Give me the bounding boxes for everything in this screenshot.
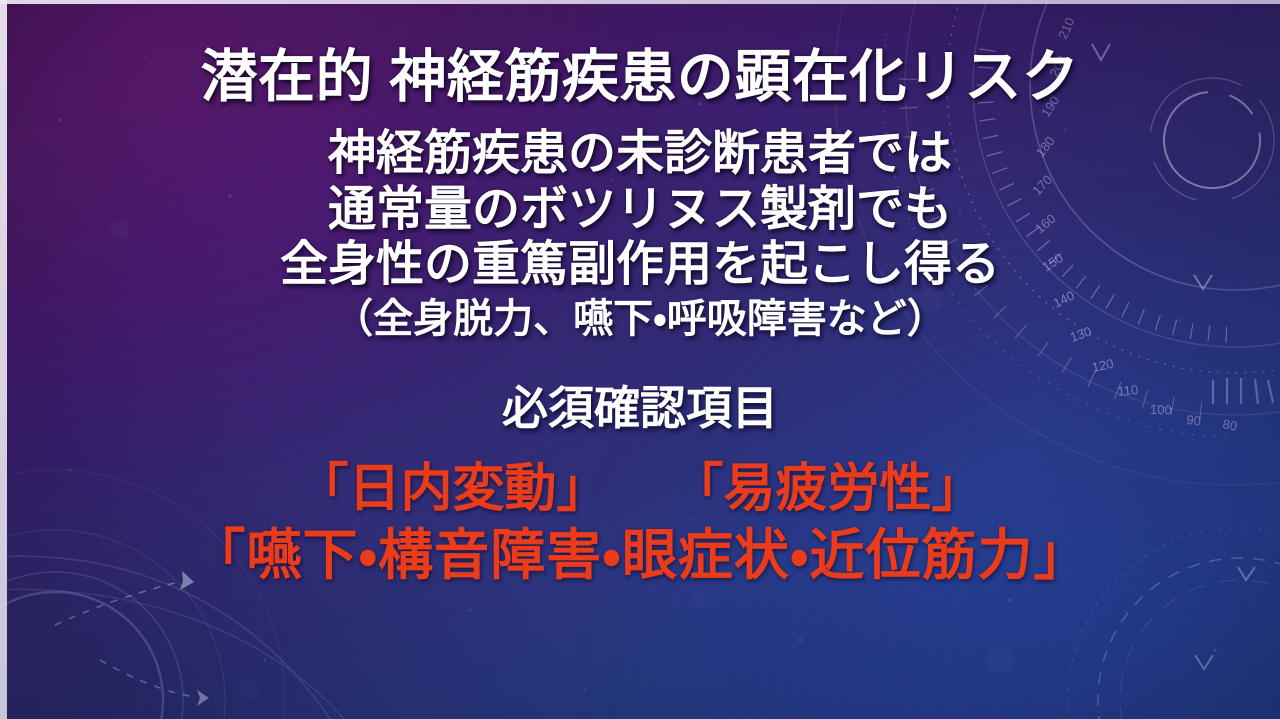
body-parenthetical: （全身脱力、嚥下・呼吸障害など） — [333, 297, 947, 341]
must-check-heading: 必須確認項目 — [502, 383, 778, 434]
body-line-1: 神経筋疾患の未診断患者では — [280, 126, 1000, 182]
body-line-3: 全身性の重篤副作用を起こし得る — [280, 237, 1000, 293]
slide-content: 潜在的 神経筋疾患の顕在化リスク 神経筋疾患の未診断患者では 通常量のボツリヌス… — [0, 0, 1280, 719]
slide-canvas: 210 200 190 180 170 160 150 140 130 120 … — [0, 0, 1280, 719]
must-check-items: 「日内変動」 「易疲労性」 「嚥下・構音障害・眼症状・近位筋力」 — [190, 459, 1089, 587]
red-items-line-2: 「嚥下・構音障害・眼症状・近位筋力」 — [190, 523, 1089, 588]
red-item-fatigability: 「易疲労性」 — [671, 460, 983, 518]
red-item-diurnal-variation: 「日内変動」 — [297, 460, 609, 518]
body-line-2: 通常量のボツリヌス製剤でも — [280, 182, 1000, 238]
slide-body: 神経筋疾患の未診断患者では 通常量のボツリヌス製剤でも 全身性の重篤副作用を起こ… — [280, 126, 1000, 293]
red-items-line-1: 「日内変動」 「易疲労性」 — [190, 459, 1089, 520]
slide-title: 潜在的 神経筋疾患の顕在化リスク — [201, 48, 1080, 108]
